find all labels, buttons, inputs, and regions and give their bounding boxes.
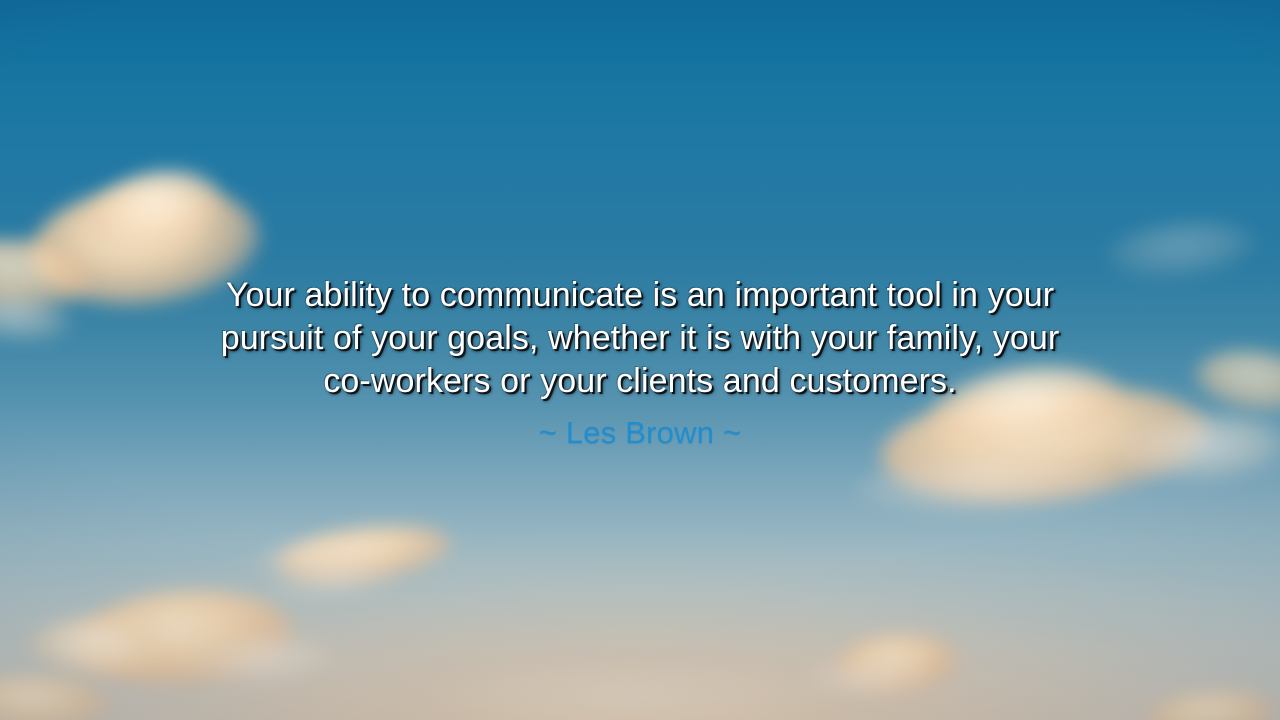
quote-attribution: ~ Les Brown ~: [0, 414, 1280, 452]
quote-text: Your ability to communicate is an import…: [0, 274, 1280, 403]
quote-block: Your ability to communicate is an import…: [0, 274, 1280, 452]
quote-line-2: pursuit of your goals, whether it is wit…: [70, 317, 1210, 360]
quote-line-1: Your ability to communicate is an import…: [70, 274, 1210, 317]
quote-image: Your ability to communicate is an import…: [0, 0, 1280, 720]
quote-line-3: co-workers or your clients and customers…: [70, 360, 1210, 403]
